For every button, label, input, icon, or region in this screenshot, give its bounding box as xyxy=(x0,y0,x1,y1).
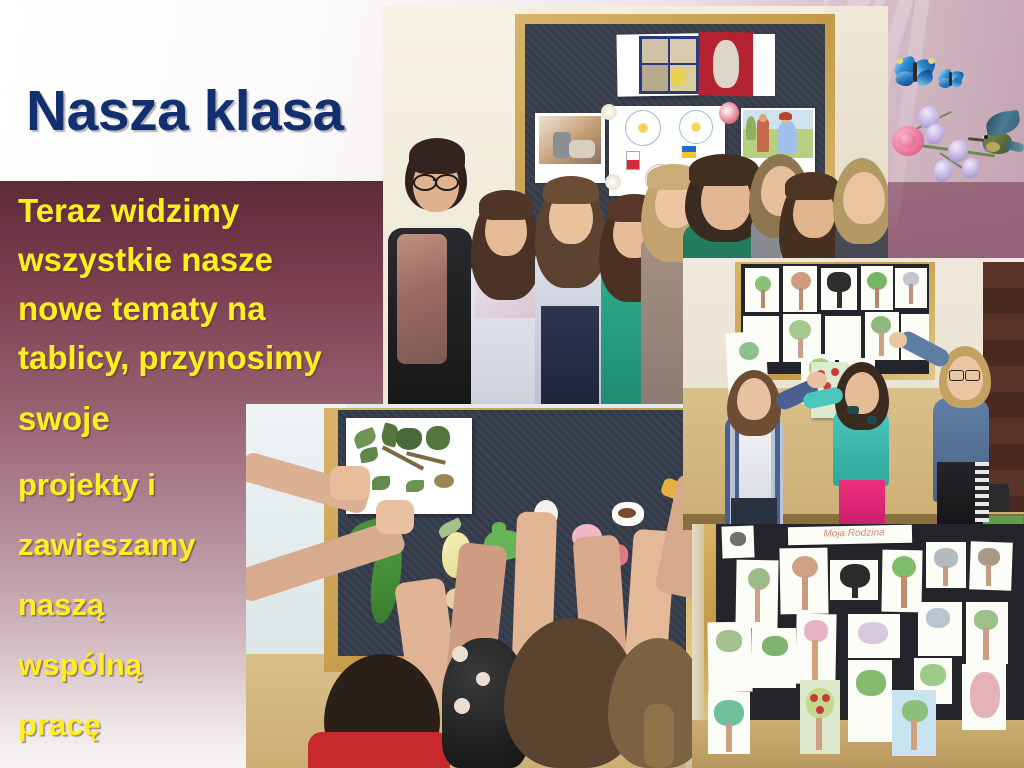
family-tree-board-photo: Moja Rodzina xyxy=(692,524,1024,768)
presentation-slide: Nasza klasa Teraz widzimy wszystkie nasz… xyxy=(0,0,1024,768)
butterfly-icon xyxy=(938,70,964,90)
board-banner-text: Moja Rodzina xyxy=(804,527,904,543)
body-line: tablicy, przynosimy xyxy=(0,333,383,382)
page-title: Nasza klasa xyxy=(26,78,344,144)
nature-decoration-group xyxy=(888,44,1024,194)
body-line: wszystkie nasze xyxy=(0,235,383,284)
hummingbird-icon xyxy=(960,112,1022,166)
butterfly-icon xyxy=(894,58,936,88)
pinning-cutouts-photo xyxy=(246,404,708,768)
body-line: Teraz widzimy xyxy=(0,186,383,235)
body-line: nowe tematy na xyxy=(0,284,383,333)
family-tree-pointing-photo xyxy=(683,258,1024,530)
